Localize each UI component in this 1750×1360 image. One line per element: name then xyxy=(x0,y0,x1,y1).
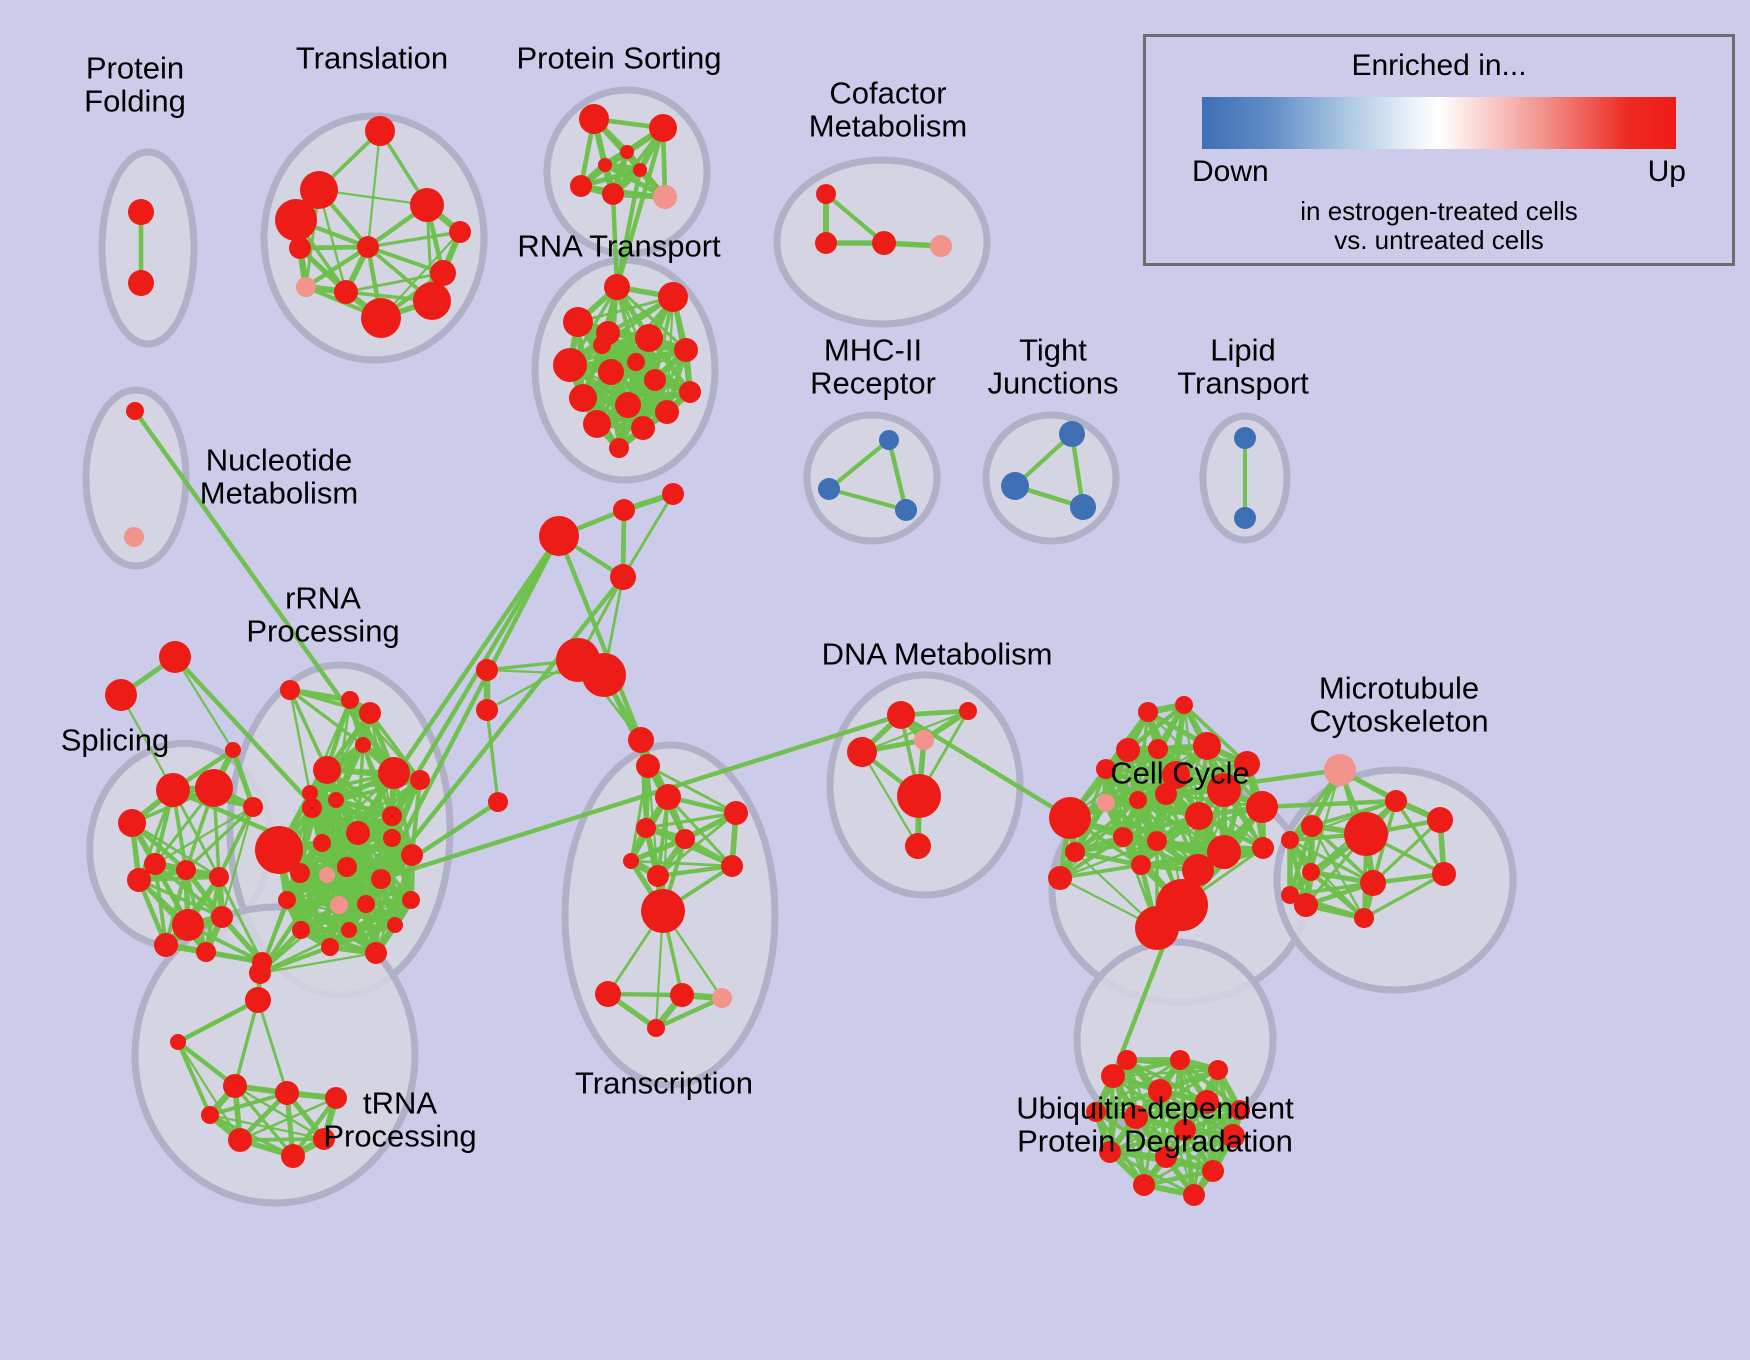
network-node[interactable] xyxy=(118,809,146,837)
network-node[interactable] xyxy=(1207,773,1241,807)
network-node[interactable] xyxy=(1234,427,1256,449)
network-node[interactable] xyxy=(225,742,241,758)
network-node[interactable] xyxy=(724,801,748,825)
network-node[interactable] xyxy=(359,702,381,724)
network-node[interactable] xyxy=(319,867,335,883)
network-node[interactable] xyxy=(281,1144,305,1168)
network-node[interactable] xyxy=(402,891,420,909)
network-node[interactable] xyxy=(721,855,743,877)
network-node[interactable] xyxy=(325,1087,347,1109)
network-node[interactable] xyxy=(228,1128,252,1152)
network-node[interactable] xyxy=(371,869,391,889)
network-node[interactable] xyxy=(1218,853,1234,869)
network-node[interactable] xyxy=(341,922,357,938)
network-node[interactable] xyxy=(895,499,917,521)
network-node[interactable] xyxy=(1099,1141,1121,1163)
network-node[interactable] xyxy=(582,653,626,697)
network-node[interactable] xyxy=(872,231,896,255)
network-node[interactable] xyxy=(583,410,611,438)
network-node[interactable] xyxy=(127,868,151,892)
legend-high-label: Up xyxy=(1648,155,1686,189)
network-node[interactable] xyxy=(1202,1160,1224,1182)
network-node[interactable] xyxy=(1324,754,1356,786)
network-node[interactable] xyxy=(602,183,624,205)
network-node[interactable] xyxy=(1385,790,1407,812)
network-node[interactable] xyxy=(1208,1060,1228,1080)
network-node[interactable] xyxy=(365,942,387,964)
network-node[interactable] xyxy=(410,770,430,790)
network-edge xyxy=(487,710,498,802)
network-node[interactable] xyxy=(154,933,178,957)
network-node[interactable] xyxy=(289,237,311,259)
network-node[interactable] xyxy=(128,270,154,296)
network-node[interactable] xyxy=(1133,1174,1155,1196)
network-node[interactable] xyxy=(302,785,318,801)
network-node[interactable] xyxy=(610,564,636,590)
network-node[interactable] xyxy=(1059,421,1085,447)
network-node[interactable] xyxy=(818,478,840,500)
network-node[interactable] xyxy=(1129,791,1147,809)
legend-caption: in estrogen-treated cells vs. untreated … xyxy=(1146,197,1732,255)
network-node[interactable] xyxy=(1147,831,1167,851)
network-node[interactable] xyxy=(633,163,647,177)
network-node[interactable] xyxy=(1344,812,1388,856)
network-node[interactable] xyxy=(563,307,593,337)
network-node[interactable] xyxy=(195,769,233,807)
network-node[interactable] xyxy=(1117,1050,1137,1070)
network-node[interactable] xyxy=(245,987,271,1013)
network-node[interactable] xyxy=(595,981,621,1007)
network-node[interactable] xyxy=(959,702,977,720)
network-node[interactable] xyxy=(914,730,934,750)
enrichment-network-figure: Protein FoldingTranslationProtein Sortin… xyxy=(0,0,1750,1360)
network-node[interactable] xyxy=(209,867,229,887)
network-edge xyxy=(175,657,233,750)
network-node[interactable] xyxy=(1001,472,1029,500)
network-node[interactable] xyxy=(296,277,316,297)
network-node[interactable] xyxy=(1432,862,1456,886)
network-node[interactable] xyxy=(1065,842,1085,862)
network-node[interactable] xyxy=(201,1106,219,1124)
network-node[interactable] xyxy=(636,754,660,778)
network-node[interactable] xyxy=(627,353,645,371)
network-node[interactable] xyxy=(1170,1050,1190,1070)
network-node[interactable] xyxy=(647,1019,665,1037)
network-node[interactable] xyxy=(292,921,310,939)
network-node[interactable] xyxy=(1427,807,1453,833)
network-node[interactable] xyxy=(615,392,641,418)
network-node[interactable] xyxy=(378,757,410,789)
network-node[interactable] xyxy=(249,962,271,984)
network-node[interactable] xyxy=(1354,908,1374,928)
network-node[interactable] xyxy=(382,806,402,826)
network-node[interactable] xyxy=(126,402,144,420)
network-node[interactable] xyxy=(387,917,403,933)
network-node[interactable] xyxy=(1246,791,1278,823)
network-node[interactable] xyxy=(1148,739,1168,759)
network-node[interactable] xyxy=(598,158,612,172)
network-node[interactable] xyxy=(679,381,701,403)
legend-caption-line-1: in estrogen-treated cells xyxy=(1146,197,1732,226)
legend-caption-line-2: vs. untreated cells xyxy=(1146,226,1732,255)
network-node[interactable] xyxy=(1096,759,1116,779)
network-node[interactable] xyxy=(172,909,204,941)
network-node[interactable] xyxy=(105,679,137,711)
network-node[interactable] xyxy=(413,282,451,320)
network-node[interactable] xyxy=(196,942,216,962)
legend-box: Enriched in... Down Up in estrogen-treat… xyxy=(1143,34,1735,266)
network-node[interactable] xyxy=(628,727,654,753)
network-node[interactable] xyxy=(1116,738,1140,762)
network-node[interactable] xyxy=(1360,870,1386,896)
network-node[interactable] xyxy=(365,116,395,146)
network-node[interactable] xyxy=(1070,494,1096,520)
network-node[interactable] xyxy=(569,384,597,412)
network-node[interactable] xyxy=(1230,1100,1250,1120)
network-node[interactable] xyxy=(159,641,191,673)
network-node[interactable] xyxy=(1221,1124,1245,1148)
network-node[interactable] xyxy=(1155,1146,1177,1168)
network-node[interactable] xyxy=(1193,732,1221,760)
network-node[interactable] xyxy=(1302,863,1320,881)
network-node[interactable] xyxy=(223,1074,247,1098)
network-node[interactable] xyxy=(321,938,339,956)
network-node[interactable] xyxy=(488,792,508,812)
network-node[interactable] xyxy=(1174,1119,1196,1141)
network-node[interactable] xyxy=(655,400,679,424)
network-node[interactable] xyxy=(357,895,375,913)
network-node[interactable] xyxy=(570,175,592,197)
network-node[interactable] xyxy=(1281,831,1299,849)
network-node[interactable] xyxy=(476,659,498,681)
network-node[interactable] xyxy=(1252,837,1274,859)
network-node[interactable] xyxy=(1148,1079,1172,1103)
network-node[interactable] xyxy=(313,756,341,784)
network-node[interactable] xyxy=(905,833,931,859)
cluster-hull xyxy=(102,152,194,344)
network-node[interactable] xyxy=(170,1034,186,1050)
network-node[interactable] xyxy=(1175,696,1193,714)
network-node[interactable] xyxy=(670,983,694,1007)
legend-low-label: Down xyxy=(1192,155,1269,189)
network-node[interactable] xyxy=(609,438,629,458)
network-node[interactable] xyxy=(653,185,677,209)
network-node[interactable] xyxy=(1131,855,1151,875)
network-node[interactable] xyxy=(383,829,401,847)
network-node[interactable] xyxy=(124,527,144,547)
network-node[interactable] xyxy=(636,818,656,838)
network-node[interactable] xyxy=(816,184,836,204)
network-node[interactable] xyxy=(176,860,196,880)
network-node[interactable] xyxy=(1113,827,1133,847)
network-node[interactable] xyxy=(604,274,630,300)
network-node[interactable] xyxy=(1048,866,1072,890)
network-node[interactable] xyxy=(593,336,611,354)
network-node[interactable] xyxy=(644,369,666,391)
network-node[interactable] xyxy=(357,236,379,258)
network-node[interactable] xyxy=(290,863,310,883)
network-node[interactable] xyxy=(401,844,423,866)
network-node[interactable] xyxy=(631,416,655,440)
network-node[interactable] xyxy=(328,792,344,808)
legend-title: Enriched in... xyxy=(1146,49,1732,83)
network-node[interactable] xyxy=(649,114,677,142)
network-node[interactable] xyxy=(675,829,695,849)
network-node[interactable] xyxy=(1086,1102,1106,1122)
network-node[interactable] xyxy=(243,797,263,817)
network-node[interactable] xyxy=(334,280,358,304)
network-node[interactable] xyxy=(897,774,941,818)
network-node[interactable] xyxy=(341,691,359,709)
network-node[interactable] xyxy=(337,857,357,877)
network-node[interactable] xyxy=(280,680,300,700)
network-node[interactable] xyxy=(355,737,371,753)
network-node[interactable] xyxy=(476,699,498,721)
network-node[interactable] xyxy=(275,199,317,241)
network-node[interactable] xyxy=(330,896,348,914)
network-node[interactable] xyxy=(1138,702,1158,722)
network-node[interactable] xyxy=(887,701,915,729)
network-node[interactable] xyxy=(815,232,837,254)
network-node[interactable] xyxy=(613,499,635,521)
network-node[interactable] xyxy=(275,1081,299,1105)
network-node[interactable] xyxy=(313,1128,335,1150)
network-node[interactable] xyxy=(156,773,190,807)
network-node[interactable] xyxy=(620,145,634,159)
color-gradient-bar xyxy=(1202,97,1676,149)
network-node[interactable] xyxy=(361,298,401,338)
network-node[interactable] xyxy=(211,906,233,928)
network-node[interactable] xyxy=(579,104,609,134)
legend-end-labels: Down Up xyxy=(1192,155,1686,189)
network-node[interactable] xyxy=(658,282,688,312)
network-node[interactable] xyxy=(641,889,685,933)
network-node[interactable] xyxy=(623,853,639,869)
network-node[interactable] xyxy=(346,821,370,845)
network-node[interactable] xyxy=(674,338,698,362)
network-node[interactable] xyxy=(662,483,684,505)
network-node[interactable] xyxy=(410,188,444,222)
network-node[interactable] xyxy=(302,798,322,818)
network-node[interactable] xyxy=(655,784,681,810)
network-node[interactable] xyxy=(647,865,669,887)
network-node[interactable] xyxy=(1281,886,1299,904)
network-node[interactable] xyxy=(1155,783,1177,805)
network-node[interactable] xyxy=(930,235,952,257)
network-node[interactable] xyxy=(1195,1090,1219,1114)
network-node[interactable] xyxy=(278,891,296,909)
network-node[interactable] xyxy=(1301,815,1323,837)
cluster-hull xyxy=(807,415,937,541)
network-node[interactable] xyxy=(553,348,587,382)
network-node[interactable] xyxy=(847,737,877,767)
network-node[interactable] xyxy=(1183,1184,1205,1206)
network-node[interactable] xyxy=(128,199,154,225)
network-node[interactable] xyxy=(879,430,899,450)
network-node[interactable] xyxy=(598,359,624,385)
network-node[interactable] xyxy=(1124,1105,1148,1129)
network-node[interactable] xyxy=(712,988,732,1008)
network-node[interactable] xyxy=(449,221,471,243)
network-node[interactable] xyxy=(1097,794,1115,812)
network-node[interactable] xyxy=(1049,797,1091,839)
network-node[interactable] xyxy=(1234,507,1256,529)
network-node[interactable] xyxy=(635,324,663,352)
network-node[interactable] xyxy=(1234,751,1260,777)
network-node[interactable] xyxy=(1185,802,1213,830)
network-node[interactable] xyxy=(313,834,331,852)
network-node[interactable] xyxy=(539,516,579,556)
network-node[interactable] xyxy=(1135,906,1179,950)
network-edge xyxy=(240,1139,324,1140)
